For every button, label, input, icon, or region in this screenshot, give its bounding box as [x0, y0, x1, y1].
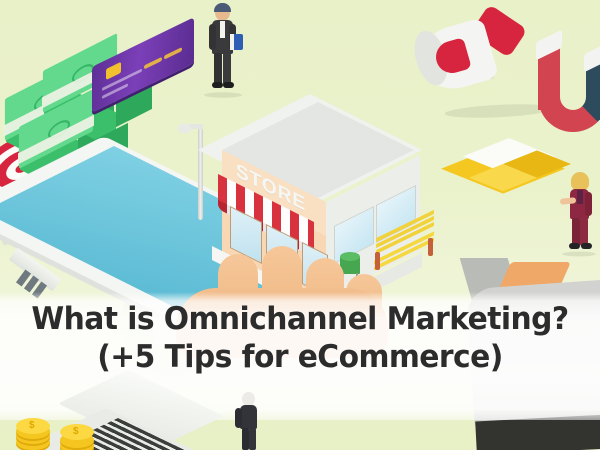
- magnet-icon: [534, 28, 600, 138]
- hero-image: STORE: [0, 0, 600, 450]
- gold-coins-icon: $ $: [16, 404, 106, 450]
- title-line-1: What is Omnichannel Marketing?: [12, 300, 588, 338]
- person-torso: [240, 405, 257, 429]
- person-arm: [235, 408, 242, 428]
- person-standing: [232, 392, 266, 450]
- person-businesswoman: [560, 172, 600, 254]
- megaphone-icon: [420, 8, 550, 108]
- person-hair: [214, 3, 231, 12]
- card-chip-icon: [106, 62, 121, 80]
- coin-dollar-symbol: $: [29, 420, 35, 431]
- page-title: What is Omnichannel Marketing? (+5 Tips …: [0, 300, 600, 376]
- envelope-icon: [455, 140, 565, 206]
- person-head: [242, 392, 255, 406]
- person-arm: [209, 24, 216, 50]
- person-blazer-lapel: [577, 190, 583, 204]
- person-folder-edge: [230, 34, 234, 50]
- street-lamp-icon: [176, 112, 216, 220]
- coin-dollar-symbol-2: $: [73, 426, 79, 437]
- person-arm-2: [585, 192, 592, 216]
- person-shirt: [220, 21, 225, 38]
- person-hair: [571, 172, 589, 190]
- title-line-2: (+5 Tips for eCommerce): [12, 338, 588, 376]
- person-businessman: [202, 4, 246, 94]
